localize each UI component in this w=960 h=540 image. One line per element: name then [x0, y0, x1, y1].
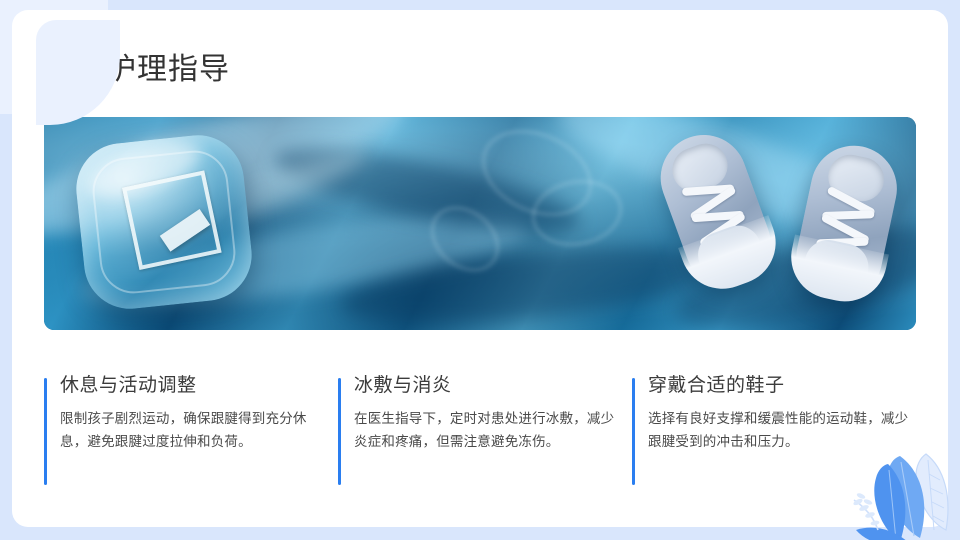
accent-bar — [44, 378, 47, 485]
column-title: 休息与活动调整 — [60, 372, 338, 400]
column-title: 穿戴合适的鞋子 — [648, 372, 926, 400]
slide-root: 家庭护理指导 — [0, 0, 960, 540]
column-title: 冰敷与消炎 — [354, 372, 632, 400]
info-column-ice: 冰敷与消炎 在医生指导下，定时对患处进行冰敷，减少炎症和疼痛，但需注意避免冻伤。 — [338, 368, 632, 453]
corner-blob-inner-decoration — [36, 20, 120, 125]
column-body: 在医生指导下，定时对患处进行冰敷，减少炎症和疼痛，但需注意避免冻伤。 — [354, 407, 616, 453]
hero-vignette — [44, 117, 916, 330]
info-column-rest: 休息与活动调整 限制孩子剧烈运动，确保跟腱得到充分休息，避免跟腱过度拉伸和负荷。 — [44, 368, 338, 453]
column-body: 限制孩子剧烈运动，确保跟腱得到充分休息，避免跟腱过度拉伸和负荷。 — [60, 407, 322, 453]
accent-bar — [338, 378, 341, 485]
column-body: 选择有良好支撑和缓震性能的运动鞋，减少跟腱受到的冲击和压力。 — [648, 407, 910, 453]
content-card: 家庭护理指导 — [12, 10, 948, 527]
hero-image — [44, 117, 916, 330]
accent-bar — [632, 378, 635, 485]
info-columns: 休息与活动调整 限制孩子剧烈运动，确保跟腱得到充分休息，避免跟腱过度拉伸和负荷。… — [44, 368, 928, 453]
info-column-footwear: 穿戴合适的鞋子 选择有良好支撑和缓震性能的运动鞋，减少跟腱受到的冲击和压力。 — [632, 368, 926, 453]
